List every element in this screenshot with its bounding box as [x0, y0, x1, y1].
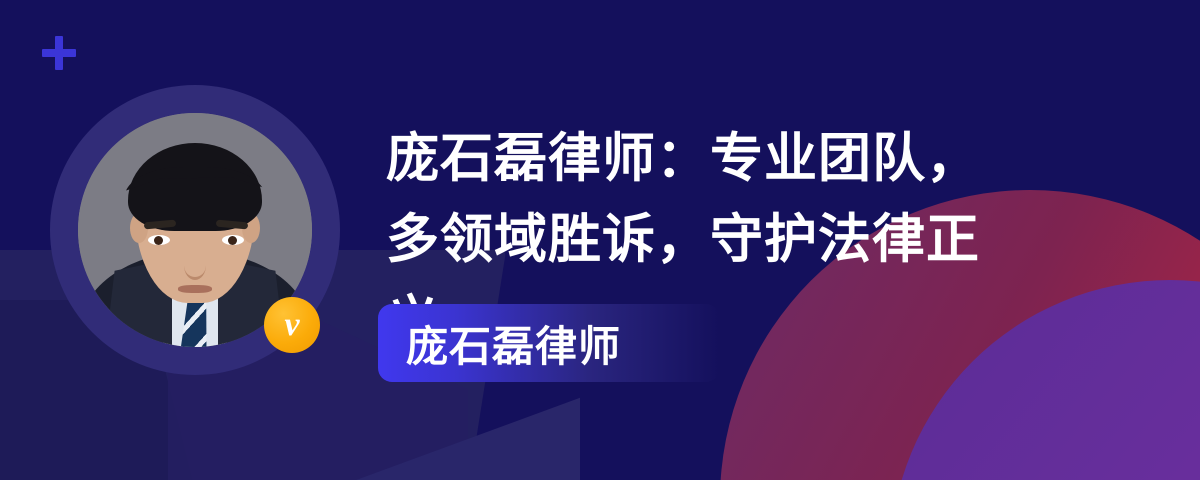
lawyer-name-badge: 庞石磊律师	[378, 304, 720, 382]
avatar: v	[50, 85, 340, 375]
avatar-eye-right	[222, 235, 244, 245]
avatar-mouth	[178, 285, 212, 293]
avatar-nose	[184, 251, 206, 280]
lawyer-profile-banner: v 庞石磊律师：专业团队， 多领域胜诉，守护法律正 义 庞石磊律师	[0, 0, 1200, 480]
verified-badge-icon: v	[264, 297, 320, 353]
lawyer-name-label: 庞石磊律师	[406, 313, 621, 374]
avatar-eye-left	[148, 235, 170, 245]
plus-icon	[42, 36, 76, 70]
verified-badge-glyph: v	[284, 308, 299, 342]
